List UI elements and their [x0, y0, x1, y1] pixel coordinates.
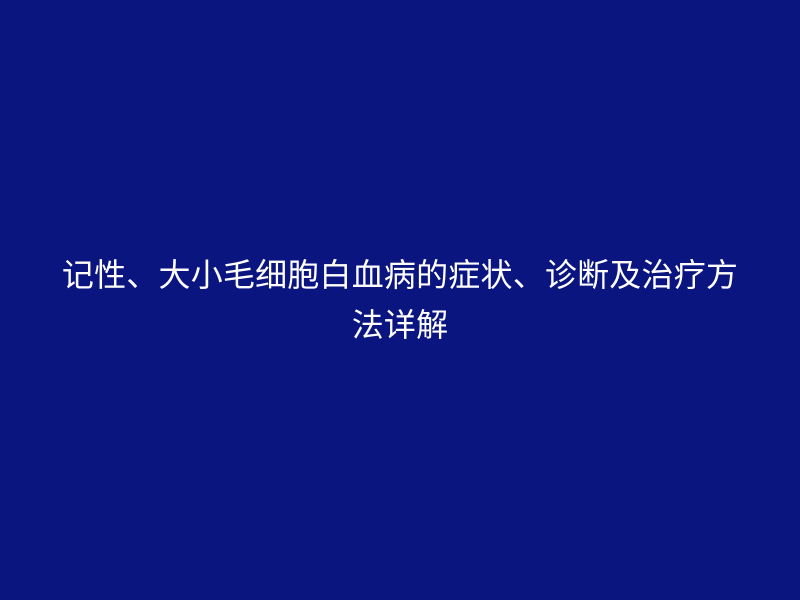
page-title: 记性、大小毛细胞白血病的症状、诊断及治疗方法详解 [50, 250, 750, 350]
title-slide: 记性、大小毛细胞白血病的症状、诊断及治疗方法详解 [0, 0, 800, 600]
title-block: 记性、大小毛细胞白血病的症状、诊断及治疗方法详解 [40, 250, 760, 350]
